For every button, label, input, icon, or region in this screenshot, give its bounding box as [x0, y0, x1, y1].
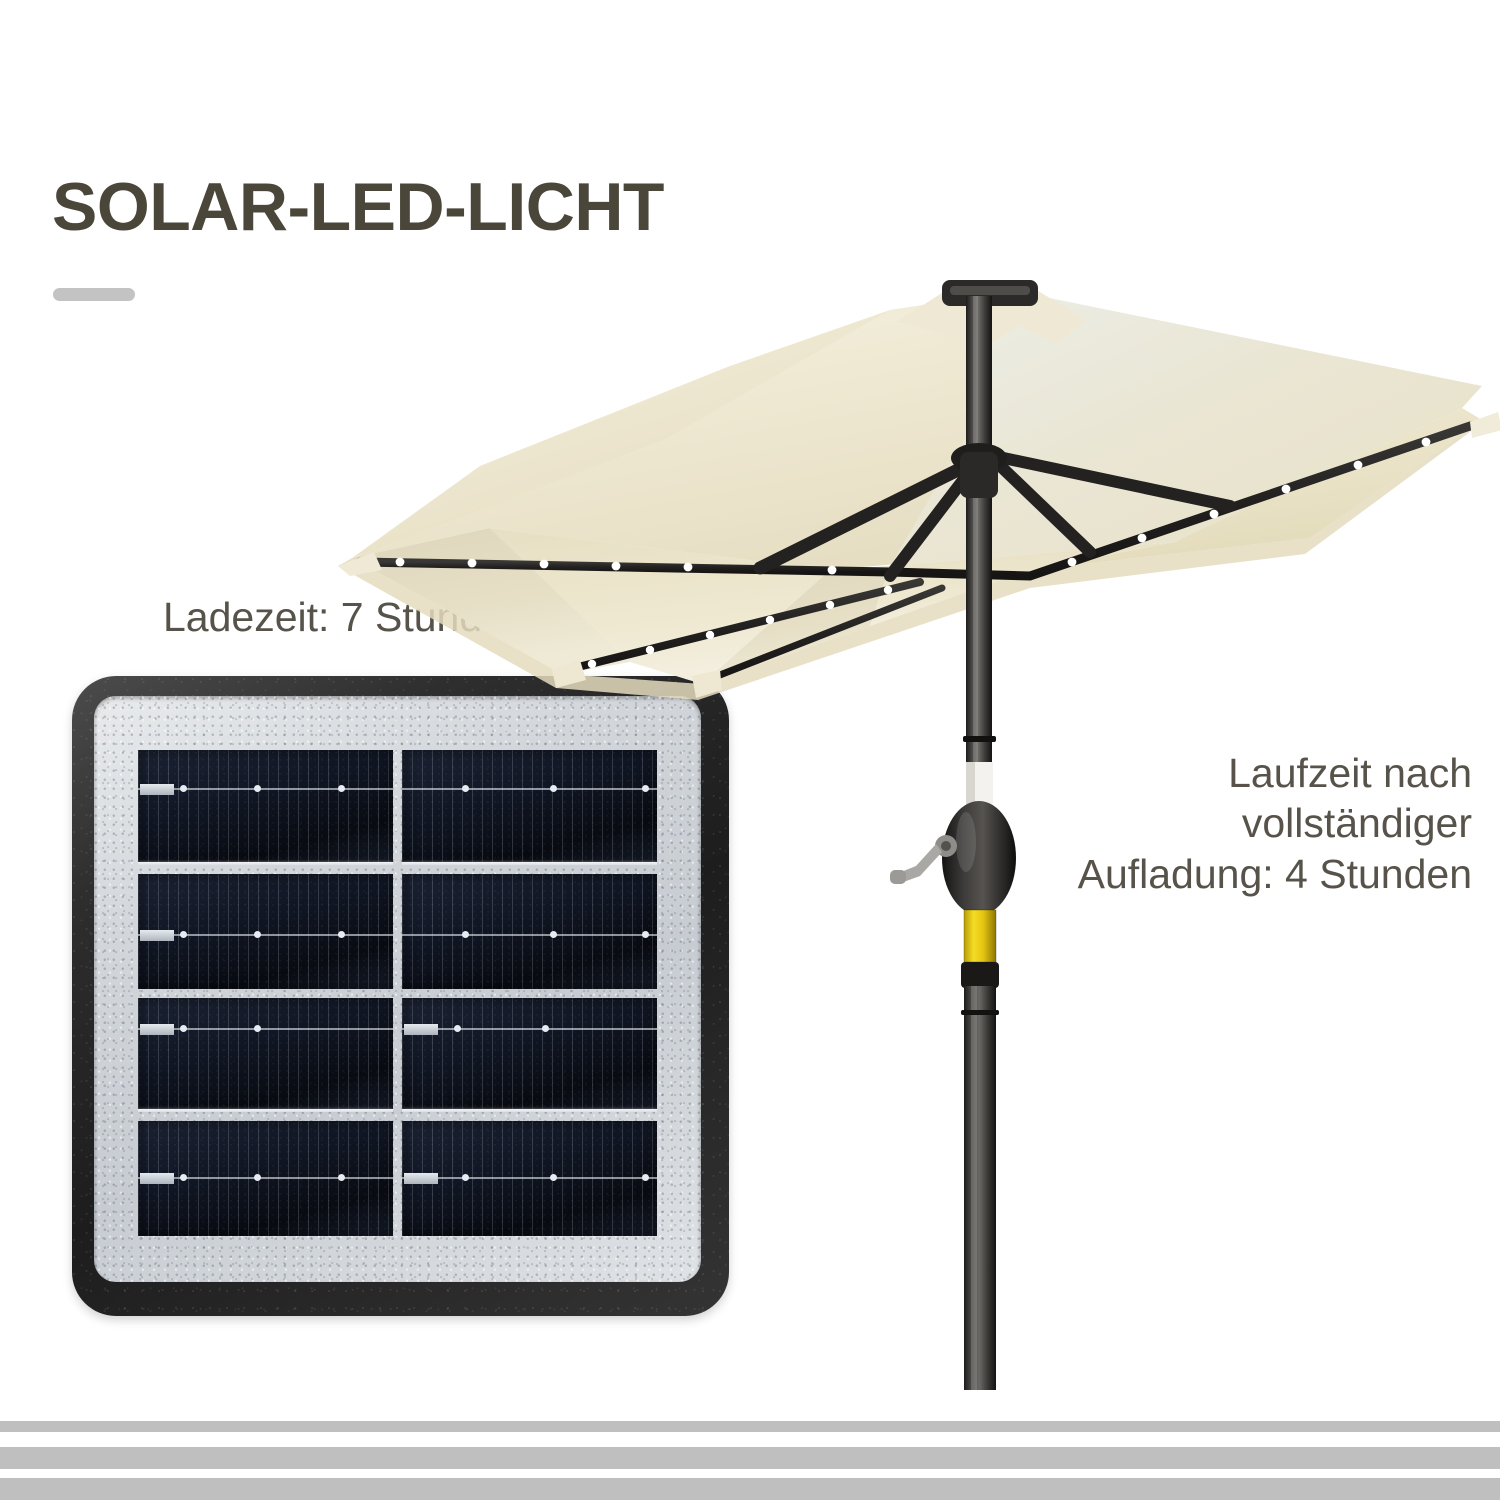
crank-axle-center: [941, 841, 951, 851]
crank-housing-highlight: [956, 812, 976, 872]
footer-stripe-medium: [0, 1447, 1500, 1469]
footer-stripe-thick: [0, 1478, 1500, 1500]
pole-accent-band: [964, 910, 996, 962]
pole-collar: [961, 962, 999, 988]
title-divider: [53, 288, 135, 301]
pole-joint-lower: [961, 1010, 999, 1015]
page-title: SOLAR-LED-LICHT: [52, 173, 664, 241]
hub-top-cap-highlight: [950, 286, 1030, 295]
pole-lower-highlight: [971, 986, 977, 1390]
parasol-drawing: [330, 270, 1490, 1230]
parasol-image: [330, 270, 1490, 1230]
infographic-page: SOLAR-LED-LICHT Ladezeit: 7 Stunden Lauf…: [0, 0, 1500, 1500]
pole-joint-upper: [963, 736, 996, 742]
hub-sleeve: [960, 452, 998, 498]
crank-grip: [890, 870, 906, 884]
footer-stripe-thin: [0, 1421, 1500, 1432]
crank-housing: [942, 801, 1016, 915]
pole-lower: [964, 986, 996, 1390]
